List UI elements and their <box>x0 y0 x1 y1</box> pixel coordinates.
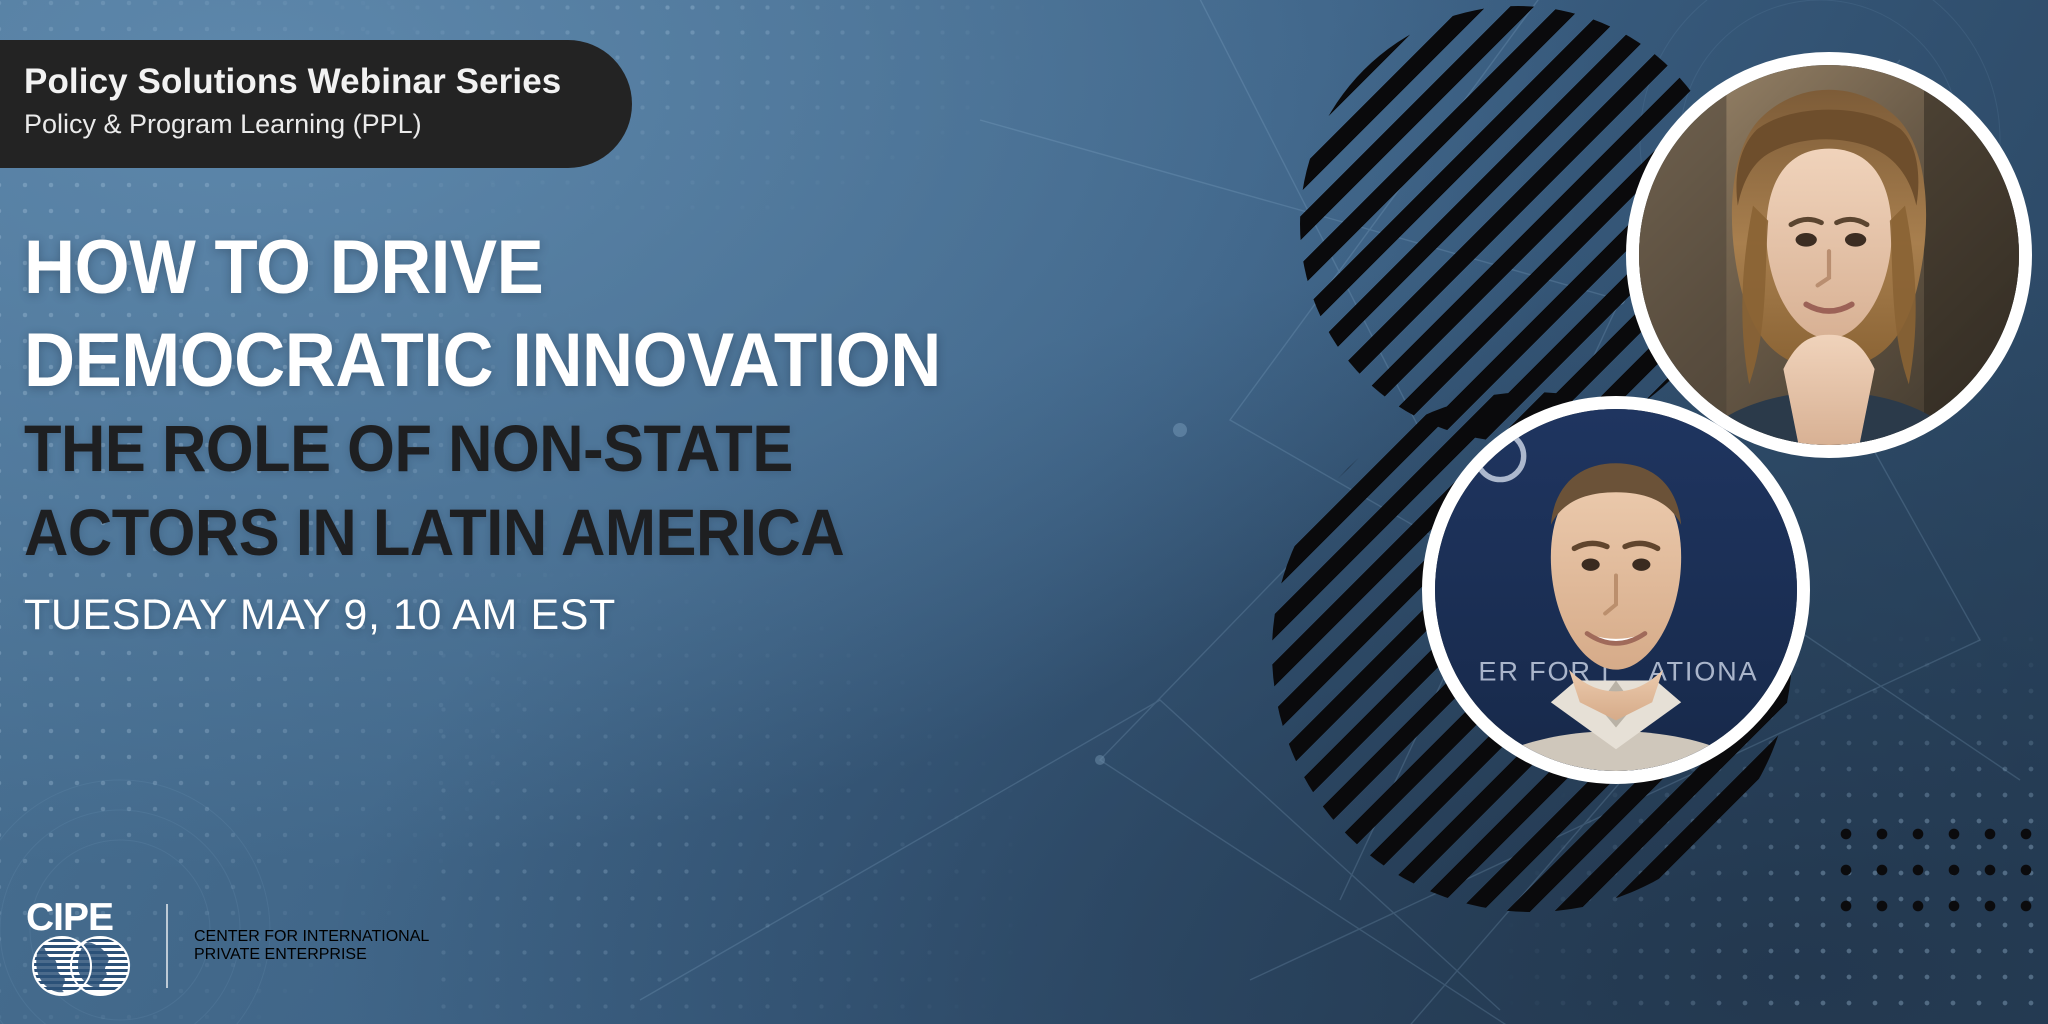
svg-text:ATIONA: ATIONA <box>1649 656 1759 687</box>
badge-subtitle: Policy & Program Learning (PPL) <box>24 108 632 140</box>
headline-line-1: HOW TO DRIVE <box>24 222 963 315</box>
organization-name-line-1: CENTER FOR INTERNATIONAL <box>194 928 429 946</box>
svg-text:CIPE: CIPE <box>26 896 113 939</box>
cipe-globe-icon: CIPE <box>22 894 140 998</box>
speaker-portrait-woman <box>1639 65 2019 445</box>
webinar-promo-banner: ER FOR I ATIONA Policy Solutions Webinar… <box>0 0 2048 1024</box>
organization-name: CENTER FOR INTERNATIONAL PRIVATE ENTERPR… <box>194 928 429 964</box>
event-date-time: TUESDAY MAY 9, 10 AM EST <box>24 591 1034 640</box>
webinar-series-badge: Policy Solutions Webinar Series Policy &… <box>0 40 632 168</box>
badge-title: Policy Solutions Webinar Series <box>24 62 632 101</box>
speakers-graphic-cluster: ER FOR I ATIONA <box>928 0 2048 1024</box>
speaker-photo-bottom: ER FOR I ATIONA <box>1422 396 1810 784</box>
headline-block: HOW TO DRIVE DEMOCRATIC INNOVATION THE R… <box>24 222 1034 640</box>
organization-name-line-2: PRIVATE ENTERPRISE <box>194 946 429 964</box>
logo-divider <box>166 904 168 988</box>
cipe-logo-lockup: CIPE <box>22 894 429 998</box>
speaker-portrait-man: ER FOR I ATIONA <box>1435 409 1797 771</box>
headline-line-2: DEMOCRATIC INNOVATION <box>24 315 963 408</box>
subheadline-line-1: THE ROLE OF NON-STATE <box>24 407 963 491</box>
speaker-photo-top <box>1626 52 2032 458</box>
subheadline-line-2: ACTORS IN LATIN AMERICA <box>24 491 963 575</box>
